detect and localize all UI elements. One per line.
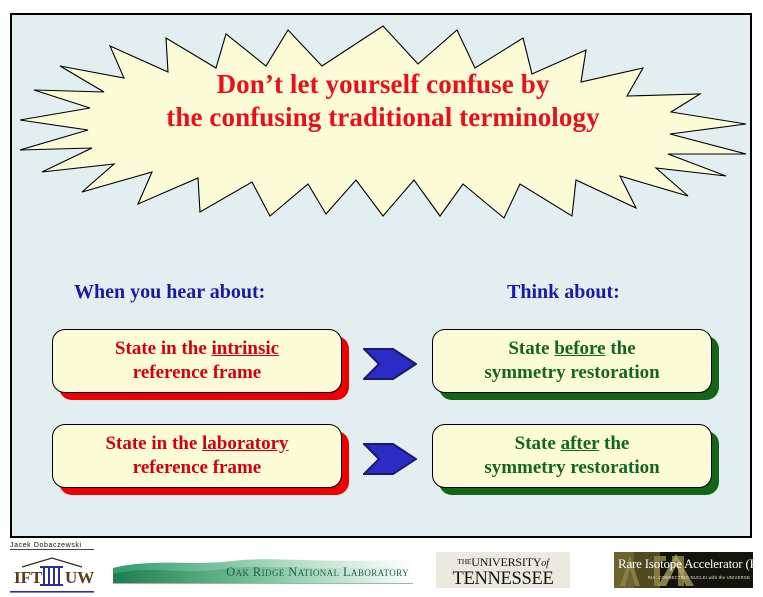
box-line1-underlined: after — [561, 433, 600, 454]
box-line2: symmetry restoration — [484, 362, 659, 383]
svg-text:IFT: IFT — [14, 568, 43, 587]
box-line1-underlined: laboratory — [202, 433, 289, 454]
box-state-before[interactable]: State before the symmetry restoration — [432, 329, 712, 393]
utk-wordmark-line2: TENNESSEE — [436, 570, 570, 589]
box-line1-post: the — [599, 433, 629, 454]
utk-wordmark-line1: THEUNIVERSITYof — [436, 552, 570, 569]
box-text: State in the intrinsic reference frame — [115, 337, 279, 385]
svg-text:UW: UW — [65, 568, 94, 587]
title-starburst: Don’t let yourself confuse by the confus… — [20, 20, 746, 220]
ornl-underline — [113, 583, 413, 584]
ria-wordmark: Rare Isotope Accelerator (RIA) — [618, 556, 751, 572]
utk-of: of — [541, 558, 548, 569]
slide-root: Don’t let yourself confuse by the confus… — [0, 0, 763, 597]
footer-logo-strip: Jacek Dobaczewski IFT UW — [0, 538, 763, 597]
ift-uw-building-icon: IFT UW — [10, 555, 94, 594]
right-chevron-arrow-icon — [363, 441, 417, 477]
box-text: State in the laboratory reference frame — [105, 432, 288, 480]
box-line1-underlined: intrinsic — [212, 338, 280, 359]
university-of-tennessee-logo: THEUNIVERSITYof TENNESSEE — [436, 552, 570, 588]
box-line1-pre: State in the — [115, 338, 212, 359]
box-line1-pre: State — [515, 433, 561, 454]
slide-canvas: Don’t let yourself confuse by the confus… — [10, 13, 752, 538]
box-line2: reference frame — [133, 457, 262, 478]
box-line1-pre: State — [508, 338, 554, 359]
box-line2: symmetry restoration — [484, 457, 659, 478]
box-laboratory-frame[interactable]: State in the laboratory reference frame — [52, 424, 342, 488]
right-chevron-arrow-1 — [363, 346, 417, 382]
box-line2: reference frame — [133, 362, 262, 383]
oak-ridge-national-laboratory-logo: Oak Ridge National Laboratory — [113, 554, 413, 586]
box-intrinsic-frame[interactable]: State in the intrinsic reference frame — [52, 329, 342, 393]
box-line1-pre: State in the — [105, 433, 202, 454]
utk-university: UNIVERSITY — [471, 555, 541, 569]
ift-uw-logo: Jacek Dobaczewski IFT UW — [10, 542, 94, 594]
ria-tagline: RIA: CONNECTING NUCLEI with the UNIVERSE — [614, 575, 750, 580]
box-line1-underlined: before — [554, 338, 605, 359]
box-text: State before the symmetry restoration — [484, 337, 659, 385]
ornl-wordmark: Oak Ridge National Laboratory — [226, 565, 409, 580]
box-state-after[interactable]: State after the symmetry restoration — [432, 424, 712, 488]
box-line1-post: the — [606, 338, 636, 359]
utk-the: THE — [457, 557, 471, 566]
author-name: Jacek Dobaczewski — [10, 542, 94, 550]
box-text: State after the symmetry restoration — [484, 432, 659, 480]
column-heading-right: Think about: — [507, 280, 620, 304]
column-heading-left: When you hear about: — [74, 280, 265, 304]
rare-isotope-accelerator-logo: Rare Isotope Accelerator (RIA) RIA: CONN… — [614, 552, 753, 588]
title-text: Don’t let yourself confuse by the confus… — [20, 68, 746, 134]
right-chevron-arrow-icon — [363, 346, 417, 382]
right-chevron-arrow-2 — [363, 441, 417, 477]
